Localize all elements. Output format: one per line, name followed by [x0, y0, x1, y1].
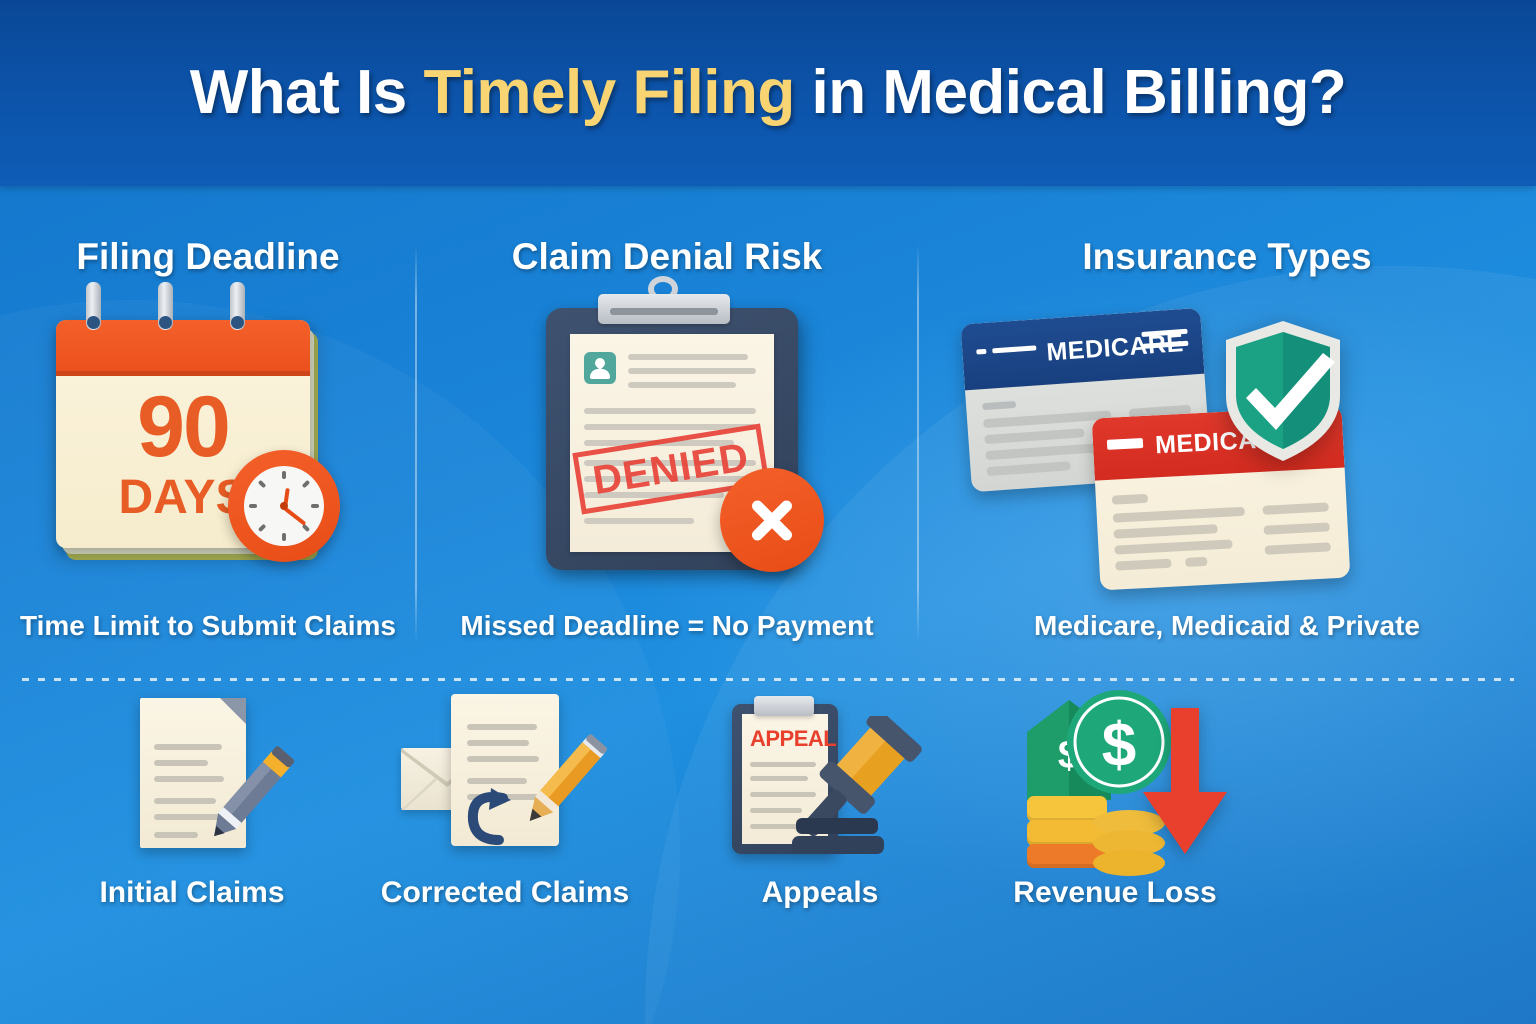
- top-section: Filing Deadline 90 DAYS: [0, 186, 1536, 678]
- calendar-ring-icon: [230, 282, 245, 330]
- bottom-label-revenue-loss: Revenue Loss: [975, 876, 1255, 910]
- pencil-icon: [192, 738, 304, 850]
- page-title: What Is Timely Filing in Medical Billing…: [0, 57, 1536, 128]
- infographic-canvas: What Is Timely Filing in Medical Billing…: [0, 0, 1536, 1024]
- column-title-claim-denial-risk: Claim Denial Risk: [416, 236, 918, 278]
- page-title-part-one: What Is: [190, 58, 424, 127]
- calendar-clock-icon: 90 DAYS: [0, 294, 416, 594]
- svg-text:$: $: [1102, 711, 1136, 780]
- rejection-x-icon: [720, 468, 824, 572]
- column-title-insurance-types: Insurance Types: [918, 236, 1536, 278]
- verified-shield-check-icon: [1218, 318, 1348, 464]
- money-down-arrow-icon: $ $: [975, 690, 1255, 860]
- page-title-part-two: in Medical Billing?: [795, 58, 1346, 127]
- document-pencil-icon: [52, 690, 332, 860]
- header-band: What Is Timely Filing in Medical Billing…: [0, 0, 1536, 186]
- appeal-clipboard-gavel-icon: APPEAL: [680, 690, 960, 860]
- document-envelope-revision-icon: [365, 690, 645, 860]
- column-caption-claim-denial-risk: Missed Deadline = No Payment: [416, 610, 918, 642]
- column-claim-denial-risk: Claim Denial Risk: [416, 186, 918, 678]
- column-filing-deadline: Filing Deadline 90 DAYS: [0, 186, 416, 678]
- insurance-cards-shield-icon: MEDICARE MEDICAID: [918, 294, 1536, 594]
- bottom-item-revenue-loss: $ $ Revenue Loss: [975, 690, 1255, 960]
- calendar-ring-icon: [86, 282, 101, 330]
- pencil-icon: [505, 726, 617, 838]
- column-caption-insurance-types: Medicare, Medicaid & Private: [918, 610, 1536, 642]
- column-divider-2: [917, 244, 919, 642]
- bottom-label-initial-claims: Initial Claims: [52, 876, 332, 910]
- gavel-icon: [790, 716, 930, 858]
- bottom-item-initial-claims: Initial Claims: [52, 690, 332, 960]
- bottom-label-corrected-claims: Corrected Claims: [365, 876, 645, 910]
- calendar-ring-icon: [158, 282, 173, 330]
- down-arrow-icon: [1143, 708, 1227, 854]
- column-insurance-types: Insurance Types MEDICARE: [918, 186, 1536, 678]
- section-divider: [22, 678, 1514, 681]
- column-divider-1: [415, 244, 417, 642]
- clipboard-clip-icon: [754, 696, 814, 716]
- clipboard-clip-icon: [598, 294, 730, 324]
- bottom-item-appeals: APPEAL: [680, 690, 960, 960]
- patient-avatar-icon: [584, 352, 616, 384]
- bottom-item-corrected-claims: Corrected Claims: [365, 690, 645, 960]
- bottom-section: Initial Claims: [0, 690, 1536, 960]
- clock-icon: [228, 450, 340, 562]
- denied-clipboard-icon: DENIED: [416, 294, 918, 594]
- page-title-highlight: Timely Filing: [423, 58, 794, 127]
- column-title-filing-deadline: Filing Deadline: [0, 236, 416, 278]
- column-caption-filing-deadline: Time Limit to Submit Claims: [0, 610, 416, 642]
- bottom-label-appeals: Appeals: [680, 876, 960, 910]
